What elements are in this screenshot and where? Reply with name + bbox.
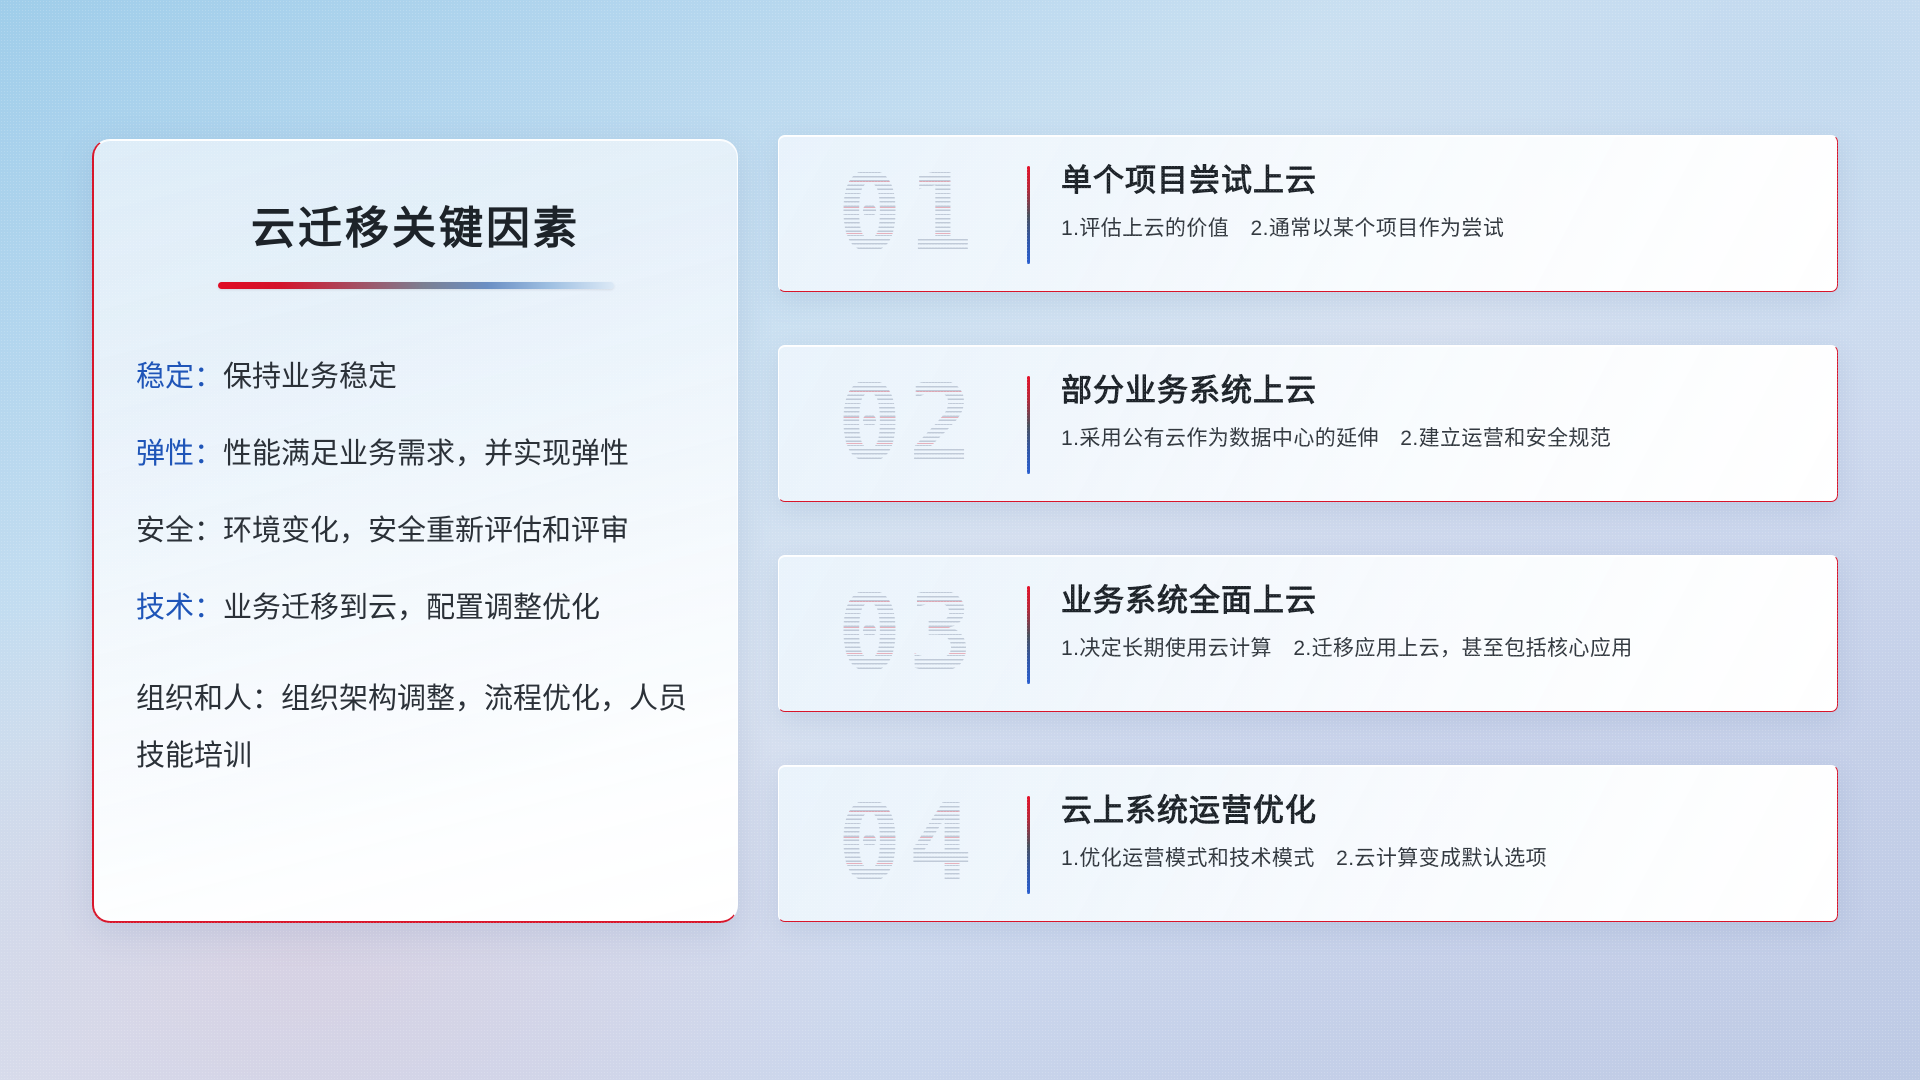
page-title: 云迁移关键因素 [94,192,737,256]
stage-number-red-tint: 02 [803,365,1013,483]
stage-description: 1.评估上云的价值 2.通常以某个项目作为尝试 [1061,216,1813,241]
stage-number-03: 03 03 [803,575,1013,693]
factor-label: 稳定： [136,361,223,393]
stage-card-03[interactable]: 03 03 业务系统全面上云 1.决定长期使用云计算 2.迁移应用上云，甚至包括… [778,555,1838,712]
title-underline-rule [218,282,614,289]
stage-divider-bar [1027,796,1030,894]
factor-list: 稳定：保持业务稳定 弹性：性能满足业务需求，并实现弹性 安全：环境变化，安全重新… [94,363,737,784]
key-factors-panel: 云迁移关键因素 稳定：保持业务稳定 弹性：性能满足业务需求，并实现弹性 安全：环… [92,139,738,923]
stage-card-02[interactable]: 02 02 部分业务系统上云 1.采用公有云作为数据中心的延伸 2.建立运营和安… [778,345,1838,502]
stage-divider-bar [1027,376,1030,474]
stage-number-red-tint: 04 [803,785,1013,903]
stage-title: 业务系统全面上云 [1061,583,1813,619]
factor-item-elasticity: 弹性：性能满足业务需求，并实现弹性 [136,440,695,469]
stage-description: 1.决定长期使用云计算 2.迁移应用上云，甚至包括核心应用 [1061,636,1813,661]
factor-value: 保持业务稳定 [223,361,397,393]
stage-title: 单个项目尝试上云 [1061,163,1813,199]
slide-canvas: 云迁移关键因素 稳定：保持业务稳定 弹性：性能满足业务需求，并实现弹性 安全：环… [0,0,1920,1080]
stage-description: 1.采用公有云作为数据中心的延伸 2.建立运营和安全规范 [1061,426,1813,451]
factor-label: 弹性： [136,438,223,470]
stage-number-04: 04 04 [803,785,1013,903]
factor-label: 组织和人： [136,683,281,715]
factor-item-organization-and-people: 组织和人：组织架构调整，流程优化，人员技能培训 [136,671,695,784]
stage-divider-bar [1027,166,1030,264]
stage-divider-bar [1027,586,1030,684]
stage-title: 云上系统运营优化 [1061,793,1813,829]
factor-item-stability: 稳定：保持业务稳定 [136,363,695,392]
factor-label: 安全： [136,515,223,547]
stage-description: 1.优化运营模式和技术模式 2.云计算变成默认选项 [1061,846,1813,871]
stage-number-red-tint: 01 [803,155,1013,273]
factor-value: 性能满足业务需求，并实现弹性 [223,438,629,470]
stage-title: 部分业务系统上云 [1061,373,1813,409]
stage-number-02: 02 02 [803,365,1013,483]
stage-number-red-tint: 03 [803,575,1013,693]
stage-card-01[interactable]: 01 01 单个项目尝试上云 1.评估上云的价值 2.通常以某个项目作为尝试 [778,135,1838,292]
factor-value: 业务迁移到云，配置调整优化 [223,592,600,624]
factor-value: 环境变化，安全重新评估和评审 [223,515,629,547]
factor-label: 技术： [136,592,223,624]
migration-stage-list: 01 01 单个项目尝试上云 1.评估上云的价值 2.通常以某个项目作为尝试 0… [778,135,1838,922]
factor-item-security: 安全：环境变化，安全重新评估和评审 [136,517,695,546]
factor-item-technology: 技术：业务迁移到云，配置调整优化 [136,594,695,623]
stage-card-04[interactable]: 04 04 云上系统运营优化 1.优化运营模式和技术模式 2.云计算变成默认选项 [778,765,1838,922]
stage-number-01: 01 01 [803,155,1013,273]
